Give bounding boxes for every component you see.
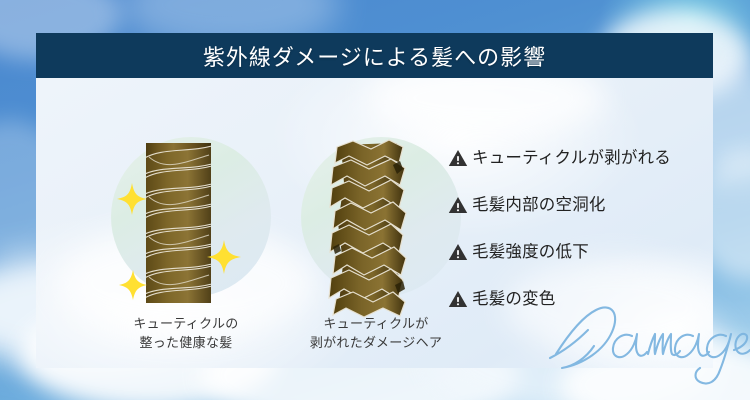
list-item: 毛髪強度の低下 bbox=[448, 242, 710, 289]
list-item-label: 毛髪強度の低下 bbox=[472, 242, 589, 262]
list-item-label: 毛髪内部の空洞化 bbox=[472, 195, 606, 215]
caption-line-2: 整った健康な髪 bbox=[139, 335, 232, 350]
list-item: キューティクルが剥がれる bbox=[448, 148, 710, 195]
damaged-hair-illustration bbox=[281, 123, 471, 323]
panel-body: キューティクルの 整った健康な髪 bbox=[36, 78, 713, 368]
caption-line-1: キューティクルが bbox=[323, 316, 428, 331]
healthy-hair-illustration bbox=[91, 123, 281, 323]
damage-effects-list: キューティクルが剥がれる 毛髪内部の空洞化 bbox=[448, 148, 710, 336]
list-item-label: キューティクルが剥がれる bbox=[472, 148, 671, 168]
list-item: 毛髪内部の空洞化 bbox=[448, 195, 710, 242]
figure-healthy-hair: キューティクルの 整った健康な髪 bbox=[91, 123, 281, 323]
poster-stage: 紫外線ダメージによる髪への影響 bbox=[0, 0, 750, 400]
content-panel: 紫外線ダメージによる髪への影響 bbox=[36, 33, 713, 368]
figure-caption-damaged: キューティクルが 剥がれたダメージヘア bbox=[281, 315, 471, 353]
figure-damaged-hair: キューティクルが 剥がれたダメージヘア bbox=[281, 123, 471, 323]
list-item-label: 毛髪の変色 bbox=[472, 289, 556, 309]
list-item: 毛髪の変色 bbox=[448, 289, 710, 336]
warning-triangle-icon bbox=[448, 243, 472, 266]
caption-line-1: キューティクルの bbox=[133, 316, 238, 331]
caption-line-2: 剥がれたダメージヘア bbox=[310, 335, 442, 350]
figure-caption-healthy: キューティクルの 整った健康な髪 bbox=[91, 315, 281, 353]
warning-triangle-icon bbox=[448, 290, 472, 313]
warning-triangle-icon bbox=[448, 196, 472, 219]
warning-triangle-icon bbox=[448, 149, 472, 172]
page-title: 紫外線ダメージによる髪への影響 bbox=[36, 33, 713, 78]
